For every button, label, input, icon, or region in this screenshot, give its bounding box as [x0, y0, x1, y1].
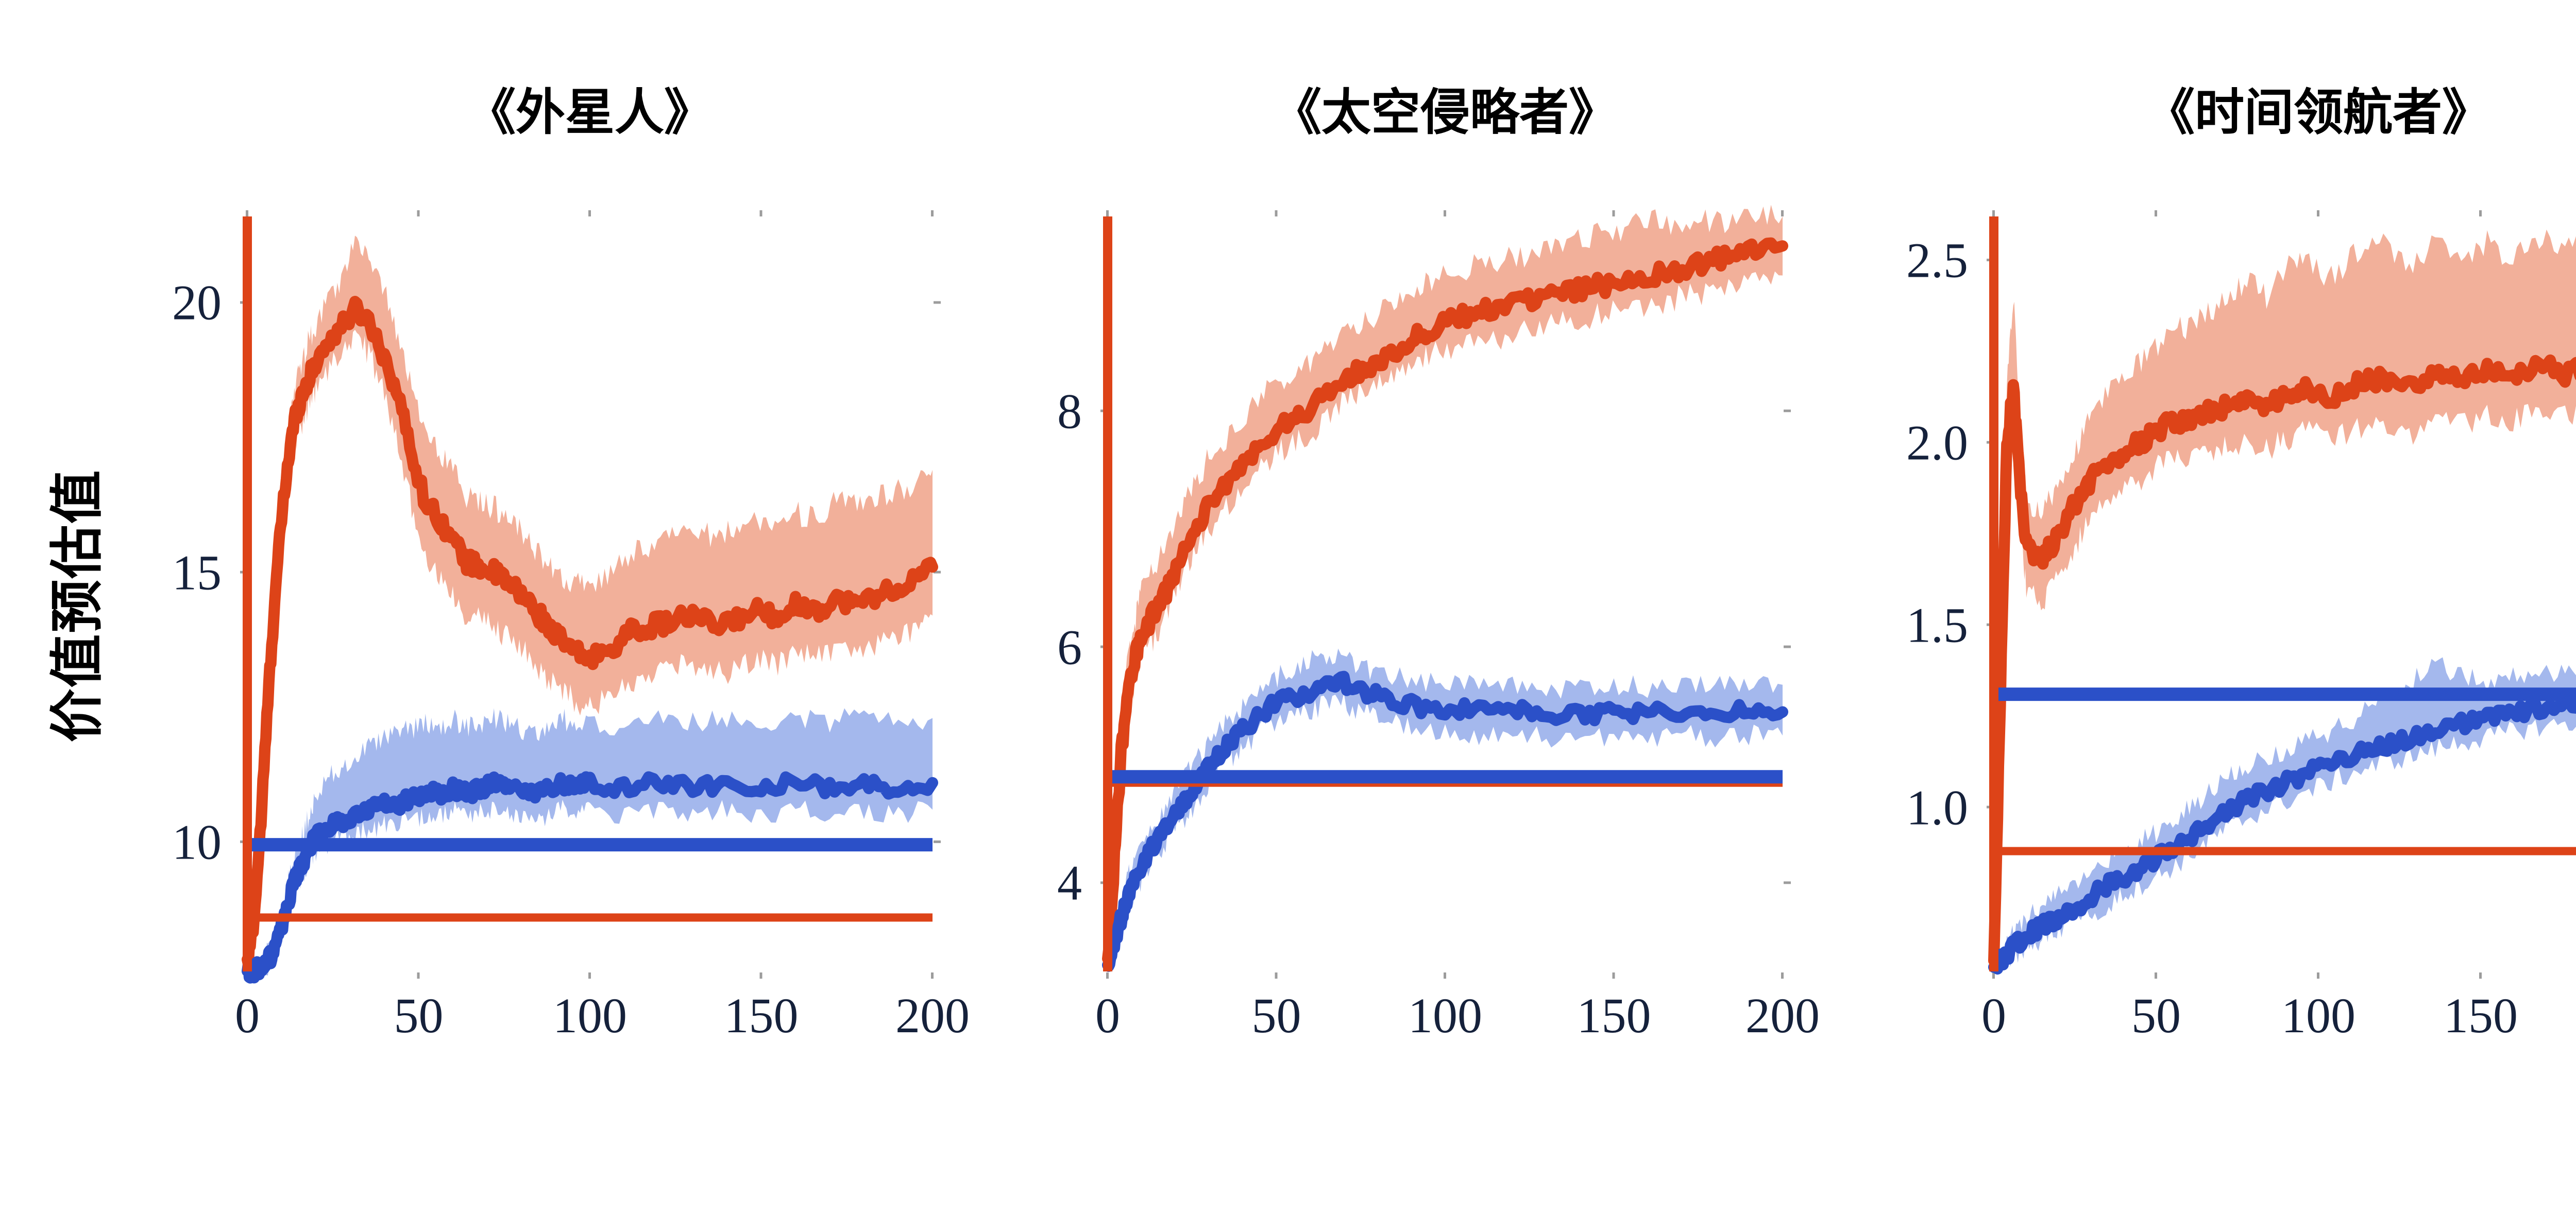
- plot-area-4: [0, 0, 2576, 1225]
- chart-panel-4: 《扎克松》02468050100150200: [0, 0, 2576, 1225]
- figure-root: 价值预估值 《外星人》101520050100150200《太空侵略者》4680…: [0, 0, 2576, 1225]
